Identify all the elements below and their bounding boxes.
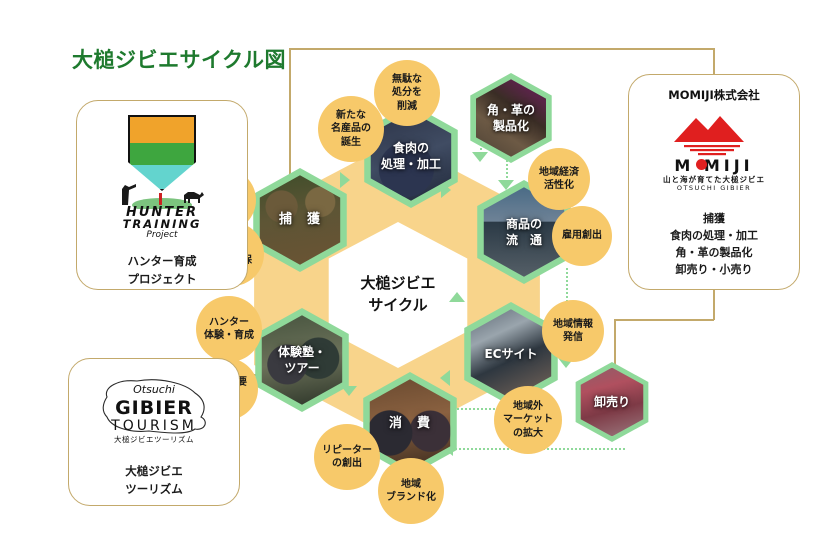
tourism-logo-line-4: 大槌ジビエツーリズム	[89, 434, 219, 445]
circle-jobs-label: 雇用創出	[562, 229, 602, 242]
hexagon-processing-label: 食肉の 処理・加工	[381, 140, 441, 172]
hexagon-tour-label: 体験塾・ ツアー	[278, 344, 326, 376]
hexagon-leather-label: 角・革の 製品化	[487, 102, 535, 134]
connector-top-right-vertical	[713, 48, 715, 76]
gibier-tourism-logo: Otsuchi GIBIER TOURISM 大槌ジビエツーリズム	[89, 373, 219, 447]
hunter-logo-line-3: Project	[114, 230, 210, 240]
hexagon-leather[interactable]: 角・革の 製品化	[464, 73, 558, 163]
connector-momiji-down	[713, 288, 715, 320]
tourism-logo-line-1: Otsuchi	[89, 383, 219, 396]
hexagon-capture-label: 捕 獲	[279, 211, 321, 229]
hexagon-wholesale[interactable]: 卸売り	[570, 362, 654, 442]
circle-jobs: 雇用創出	[552, 206, 612, 266]
hunter-training-box[interactable]: HUNTER TRAINING Project ハンター育成 プロジェクト	[76, 100, 248, 290]
momiji-wordmark: M MIJI	[648, 156, 780, 175]
hunter-silhouette-icon	[114, 175, 210, 209]
circle-hunter-training-label: ハンター 体験・育成	[204, 316, 254, 342]
hexagon-tour[interactable]: 体験塾・ ツアー	[248, 308, 356, 412]
gibier-tourism-box[interactable]: Otsuchi GIBIER TOURISM 大槌ジビエツーリズム 大槌ジビエ …	[68, 358, 240, 506]
flow-arrow-leather-to-logistics	[506, 160, 508, 182]
circle-local-info-label: 地域情報 発信	[553, 318, 593, 344]
momiji-mountain-icon	[648, 110, 780, 158]
connector-right-horizontal	[614, 319, 714, 321]
gibier-tourism-caption: 大槌ジビエ ツーリズム	[125, 463, 183, 499]
momiji-company-title: MOMIJI株式会社	[668, 87, 760, 103]
circle-outside-market-label: 地域外 マーケット の拡大	[503, 400, 553, 440]
shield-band-orange	[130, 117, 194, 143]
circle-repeaters: リピーター の創出	[314, 424, 380, 490]
momiji-tagline-en: OTSUCHI GIBIER	[648, 184, 780, 192]
tourism-logo-line-2: GIBIER	[89, 397, 219, 419]
central-cycle-label: 大槌ジビエ サイクル	[360, 273, 435, 317]
connector-top-horizontal	[289, 48, 714, 50]
momiji-services-list: 捕獲 食肉の処理・加工 角・革の製品化 卸売り・小売り	[670, 210, 758, 278]
hexagon-consumption-label: 消 費	[389, 415, 431, 433]
circle-outside-market: 地域外 マーケット の拡大	[494, 386, 562, 454]
circle-local-economy-label: 地域経済 活性化	[539, 166, 579, 192]
circle-local-economy: 地域経済 活性化	[528, 148, 590, 210]
circle-hunter-training: ハンター 体験・育成	[196, 296, 262, 362]
hunter-training-caption: ハンター育成 プロジェクト	[128, 253, 197, 289]
page-title: 大槌ジビエサイクル図	[72, 44, 286, 74]
shield-band-green	[130, 143, 194, 165]
hexagon-wholesale-label: 卸売り	[594, 394, 630, 410]
hunter-training-logo: HUNTER TRAINING Project	[114, 113, 210, 225]
hexagon-ecsite-label: ECサイト	[484, 346, 537, 362]
circle-repeaters-label: リピーター の創出	[322, 444, 372, 470]
momiji-company-box[interactable]: MOMIJI株式会社 M MIJI 山と海が育てた大槌ジビエ OTSUCHI G…	[628, 74, 800, 290]
circle-local-brand: 地域 ブランド化	[378, 458, 444, 524]
hunter-logo-line-2: TRAINING	[114, 217, 210, 231]
circle-reduce-waste: 無駄な 処分を 削減	[374, 60, 440, 126]
circle-local-brand-label: 地域 ブランド化	[386, 478, 436, 504]
circle-new-specialty-label: 新たな 名産品の 誕生	[331, 109, 371, 149]
diagram-canvas: 大槌ジビエサイクル図 大槌ジビエ サイクル 捕 獲 食肉の 処	[0, 0, 840, 560]
tourism-logo-line-3: TOURISM	[89, 418, 219, 434]
momiji-logo: M MIJI 山と海が育てた大槌ジビエ OTSUCHI GIBIER	[648, 110, 780, 190]
circle-new-specialty: 新たな 名産品の 誕生	[318, 96, 384, 162]
circle-local-info: 地域情報 発信	[542, 300, 604, 362]
circle-reduce-waste-label: 無駄な 処分を 削減	[392, 73, 422, 113]
ring-arrow-ec-up	[449, 292, 465, 302]
momiji-red-dot-icon	[696, 159, 707, 170]
hexagon-logistics-label: 商品の 流 通	[506, 216, 542, 248]
